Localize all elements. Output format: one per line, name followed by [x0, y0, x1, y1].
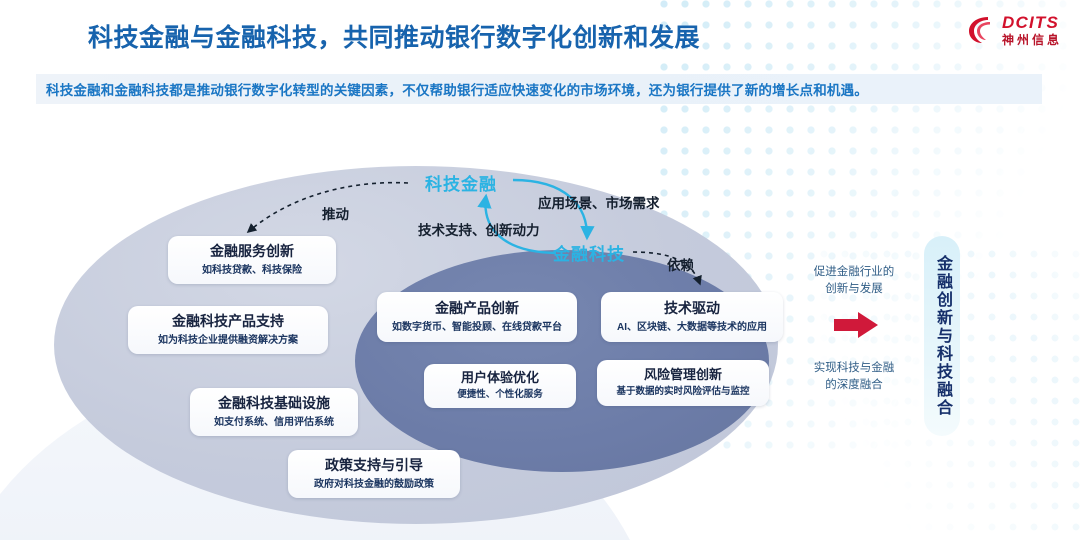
red-arrow-icon	[832, 310, 880, 340]
card-fintech-infrastructure[interactable]: 金融科技基础设施 如支付系统、信用评估系统	[190, 388, 358, 436]
card-title: 金融科技产品支持	[172, 313, 284, 331]
card-fintech-product-support[interactable]: 金融科技产品支持 如为科技企业提供融资解决方案	[128, 306, 328, 354]
card-subtitle: 政府对科技金融的鼓励政策	[314, 478, 434, 491]
card-technology-driven[interactable]: 技术驱动 AI、区块链、大数据等技术的应用	[601, 292, 783, 342]
label-fintech: 金融科技	[553, 240, 625, 265]
note-deep-integration: 实现科技与金融的深度融合	[812, 360, 896, 395]
slide-canvas: 科技金融与金融科技，共同推动银行数字化创新和发展 DCITS 神州信息 科技金融…	[0, 0, 1080, 540]
card-title: 风险管理创新	[644, 367, 722, 383]
card-policy-support[interactable]: 政策支持与引导 政府对科技金融的鼓励政策	[288, 450, 460, 498]
card-subtitle: 基于数据的实时风险评估与监控	[616, 386, 749, 398]
card-title: 金融科技基础设施	[218, 395, 330, 413]
card-financial-service-innovation[interactable]: 金融服务创新 如科技贷款、科技保险	[168, 236, 336, 284]
card-financial-product-innovation[interactable]: 金融产品创新 如数字货币、智能投顾、在线贷款平台	[377, 292, 577, 342]
label-scenario-demand: 应用场景、市场需求	[538, 192, 660, 212]
card-subtitle: 如科技贷款、科技保险	[202, 264, 302, 277]
vertical-label-text: 金融创新与科技融合	[924, 236, 960, 436]
card-subtitle: 如支付系统、信用评估系统	[214, 416, 334, 429]
brand-logo: DCITS 神州信息	[968, 14, 1062, 46]
label-drive: 推动	[322, 203, 349, 223]
card-title: 金融服务创新	[210, 243, 294, 261]
card-title: 技术驱动	[664, 300, 720, 318]
card-subtitle: 如数字货币、智能投顾、在线贷款平台	[392, 321, 562, 334]
label-tech-finance: 科技金融	[425, 170, 497, 195]
card-subtitle: 便捷性、个性化服务	[457, 389, 543, 401]
subtitle-banner: 科技金融和金融科技都是推动银行数字化转型的关键因素，不仅帮助银行适应快速变化的市…	[36, 74, 1042, 104]
card-subtitle: 如为科技企业提供融资解决方案	[158, 334, 298, 347]
card-title: 政策支持与引导	[325, 457, 423, 475]
logo-text-en: DCITS	[1002, 14, 1062, 31]
subtitle-text: 科技金融和金融科技都是推动银行数字化转型的关键因素，不仅帮助银行适应快速变化的市…	[36, 79, 868, 99]
logo-text-cn: 神州信息	[1002, 34, 1062, 46]
page-title: 科技金融与金融科技，共同推动银行数字化创新和发展	[88, 18, 700, 54]
label-tech-support: 技术支持、创新动力	[418, 219, 540, 239]
label-depend: 依赖	[667, 254, 694, 274]
card-subtitle: AI、区块链、大数据等技术的应用	[617, 321, 767, 334]
note-promote-innovation: 促进金融行业的创新与发展	[812, 264, 896, 299]
card-user-experience-optimization[interactable]: 用户体验优化 便捷性、个性化服务	[424, 364, 576, 408]
card-risk-management-innovation[interactable]: 风险管理创新 基于数据的实时风险评估与监控	[597, 360, 769, 406]
card-title: 用户体验优化	[461, 370, 539, 386]
dcits-swoosh-icon	[968, 15, 996, 45]
card-title: 金融产品创新	[435, 300, 519, 318]
